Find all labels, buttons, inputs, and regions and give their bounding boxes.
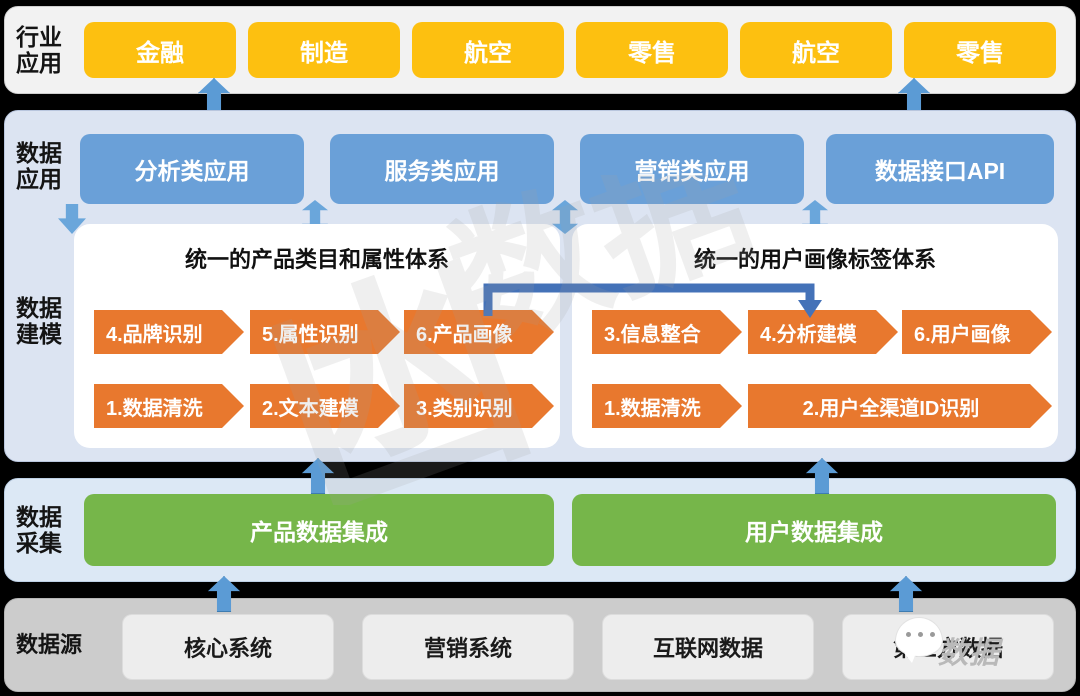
layer-label-data-source: 数据源 <box>16 632 82 657</box>
chevron-user-r1-c0-label: 1.数据清洗 <box>604 392 701 421</box>
data-source-box-0-label: 核心系统 <box>184 631 272 663</box>
industry-box-0[interactable]: 金融 <box>84 22 236 78</box>
chevron-product-r1-c1[interactable]: 2.文本建模 <box>250 384 400 428</box>
data-application-box-1[interactable]: 服务类应用 <box>330 134 554 204</box>
data-source-box-1[interactable]: 营销系统 <box>362 614 574 680</box>
data-source-box-1-label: 营销系统 <box>424 631 512 663</box>
chevron-user-r1-c0[interactable]: 1.数据清洗 <box>592 384 742 428</box>
chevron-user-r0-c0-label: 3.信息整合 <box>604 318 701 347</box>
connector-product-to-user-modeling <box>480 276 840 320</box>
data-collection-box-1-label: 用户数据集成 <box>745 513 883 547</box>
industry-box-3[interactable]: 零售 <box>576 22 728 78</box>
data-application-box-3-label: 数据接口API <box>875 152 1005 186</box>
data-source-box-3-label: 第三方数据 <box>893 631 1003 663</box>
chevron-product-r0-c0[interactable]: 4.品牌识别 <box>94 310 244 354</box>
data-application-box-3[interactable]: 数据接口API <box>826 134 1054 204</box>
data-collection-box-0-label: 产品数据集成 <box>250 513 388 547</box>
chevron-product-r1-c2[interactable]: 3.类别识别 <box>404 384 554 428</box>
data-application-box-2[interactable]: 营销类应用 <box>580 134 804 204</box>
data-collection-box-0[interactable]: 产品数据集成 <box>84 494 554 566</box>
industry-box-4[interactable]: 航空 <box>740 22 892 78</box>
data-source-box-2-label: 互联网数据 <box>653 631 763 663</box>
data-collection-box-1[interactable]: 用户数据集成 <box>572 494 1056 566</box>
modeling-panel-product-title: 统一的产品类目和属性体系 <box>74 242 560 274</box>
chevron-product-r1-c2-label: 3.类别识别 <box>416 392 513 421</box>
industry-box-4-label: 航空 <box>792 33 840 68</box>
chevron-user-r0-c1-label: 4.分析建模 <box>760 318 857 347</box>
data-application-box-1-label: 服务类应用 <box>385 152 500 186</box>
layer-label-data-modeling: 数据 建模 <box>16 295 62 348</box>
industry-box-5-label: 零售 <box>956 33 1004 68</box>
chevron-product-r0-c1[interactable]: 5.属性识别 <box>250 310 400 354</box>
diagram-canvas: 行业 应用 金融 制造 航空 零售 航空 零售 数据 应用 数据 建模 分析类应… <box>0 0 1080 696</box>
industry-box-1-label: 制造 <box>300 33 348 68</box>
modeling-panel-user-title: 统一的用户画像标签体系 <box>572 242 1058 274</box>
data-source-box-2[interactable]: 互联网数据 <box>602 614 814 680</box>
chevron-user-r0-c2-label: 6.用户画像 <box>914 318 1011 347</box>
data-source-box-3[interactable]: 第三方数据 <box>842 614 1054 680</box>
industry-box-3-label: 零售 <box>628 33 676 68</box>
industry-box-2-label: 航空 <box>464 33 512 68</box>
chevron-product-r1-c0-label: 1.数据清洗 <box>106 392 203 421</box>
chevron-product-r0-c1-label: 5.属性识别 <box>262 318 359 347</box>
data-application-box-0-label: 分析类应用 <box>135 152 250 186</box>
data-application-box-0[interactable]: 分析类应用 <box>80 134 304 204</box>
chevron-product-r1-c1-label: 2.文本建模 <box>262 392 359 421</box>
industry-box-0-label: 金融 <box>136 33 184 68</box>
chevron-user-r1-c1-label: 2.用户全渠道ID识别 <box>803 392 980 421</box>
industry-box-1[interactable]: 制造 <box>248 22 400 78</box>
chevron-product-r0-c0-label: 4.品牌识别 <box>106 318 203 347</box>
data-application-box-2-label: 营销类应用 <box>635 152 750 186</box>
industry-box-2[interactable]: 航空 <box>412 22 564 78</box>
chevron-product-r1-c0[interactable]: 1.数据清洗 <box>94 384 244 428</box>
layer-label-data-application: 数据 应用 <box>16 140 62 193</box>
chevron-user-r0-c2[interactable]: 6.用户画像 <box>902 310 1052 354</box>
industry-box-5[interactable]: 零售 <box>904 22 1056 78</box>
layer-label-data-collection: 数据 采集 <box>16 504 62 557</box>
chevron-product-r0-c2-label: 6.产品画像 <box>416 318 513 347</box>
chevron-user-r1-c1[interactable]: 2.用户全渠道ID识别 <box>748 384 1052 428</box>
layer-label-industry: 行业 应用 <box>16 24 62 77</box>
data-source-box-0[interactable]: 核心系统 <box>122 614 334 680</box>
